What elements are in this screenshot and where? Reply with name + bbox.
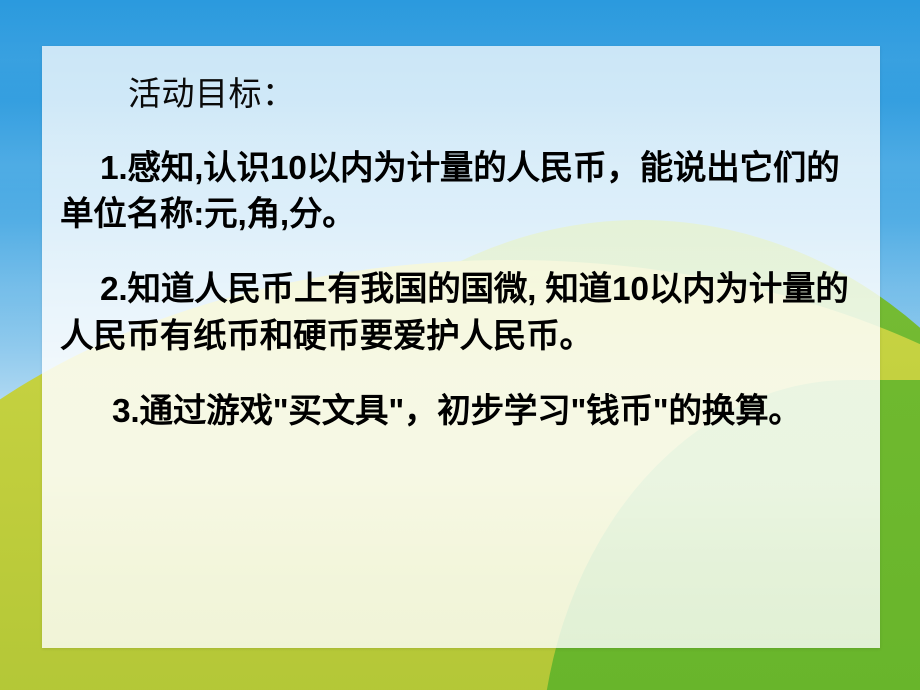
goal-item-1: 1.感知,认识10以内为计量的人民币，能说出它们的单位名称:元,角,分。 [60, 146, 862, 240]
goals-text-block: 活动目标： 1.感知,认识10以内为计量的人民币，能说出它们的单位名称:元,角,… [42, 46, 880, 648]
goal-item-2: 2.知道人民币上有我国的国微, 知道10以内为计量的人民币有纸币和硬币要爱护人民… [60, 267, 862, 361]
content-panel: 活动目标： 1.感知,认识10以内为计量的人民币，能说出它们的单位名称:元,角,… [42, 46, 880, 648]
page-title: 活动目标： [60, 72, 862, 116]
goal-item-3: 3.通过游戏"买文具"，初步学习"钱币"的换算。 [60, 389, 862, 436]
slide-canvas: 活动目标： 1.感知,认识10以内为计量的人民币，能说出它们的单位名称:元,角,… [0, 0, 920, 690]
